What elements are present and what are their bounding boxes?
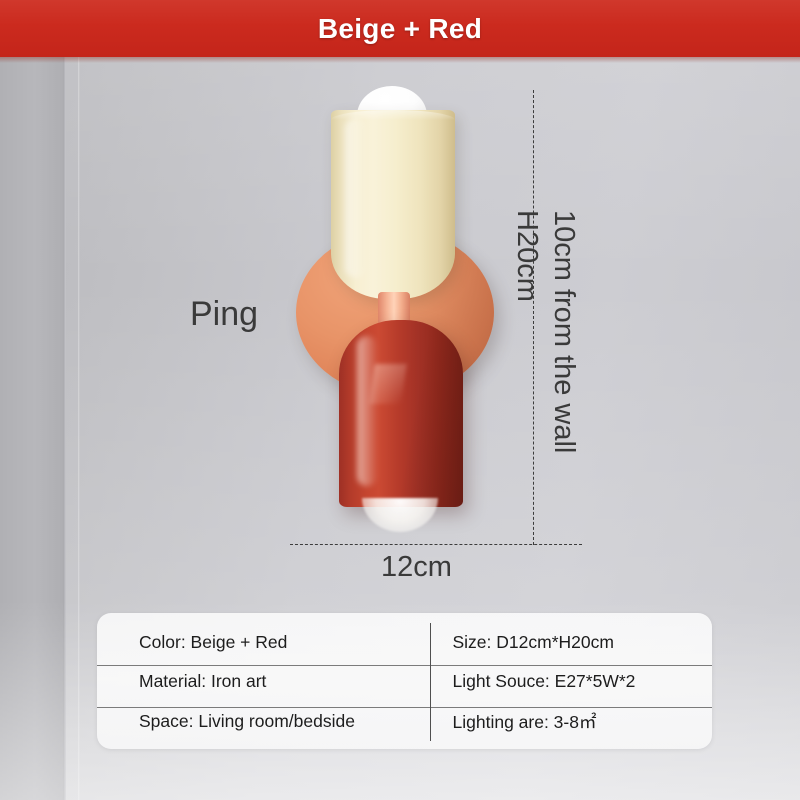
lower-bulb-glow [362, 498, 438, 532]
lower-shade-highlight [357, 336, 377, 486]
depth-dimension-label: 10cm from the wall [547, 210, 580, 453]
product-detail-image: Beige + Red Ping 12cm H20cm 10cm from th… [0, 0, 800, 800]
lower-shade-reflection [369, 364, 407, 404]
spec-color-label: Color: Beige + Red [97, 623, 405, 662]
spec-space-label: Space: Living room/bedside [97, 702, 405, 741]
spec-size-label: Size: D12cm*H20cm [405, 623, 713, 662]
spec-table: Color: Beige + Red Size: D12cm*H20cm Mat… [97, 613, 712, 749]
height-dimension-label: H20cm [510, 210, 543, 302]
horizontal-dimension-line [290, 544, 582, 545]
vertical-dimension-line [533, 90, 534, 545]
width-dimension-label: 12cm [381, 551, 452, 584]
upper-shade-highlight [345, 118, 367, 278]
product-name-label: Ping [190, 295, 258, 334]
spec-light-source-label: Light Souce: E27*5W*2 [405, 662, 713, 701]
spec-material-label: Material: Iron art [97, 662, 405, 701]
spec-lighting-area-label: Lighting are: 3-8㎡ [405, 702, 713, 741]
